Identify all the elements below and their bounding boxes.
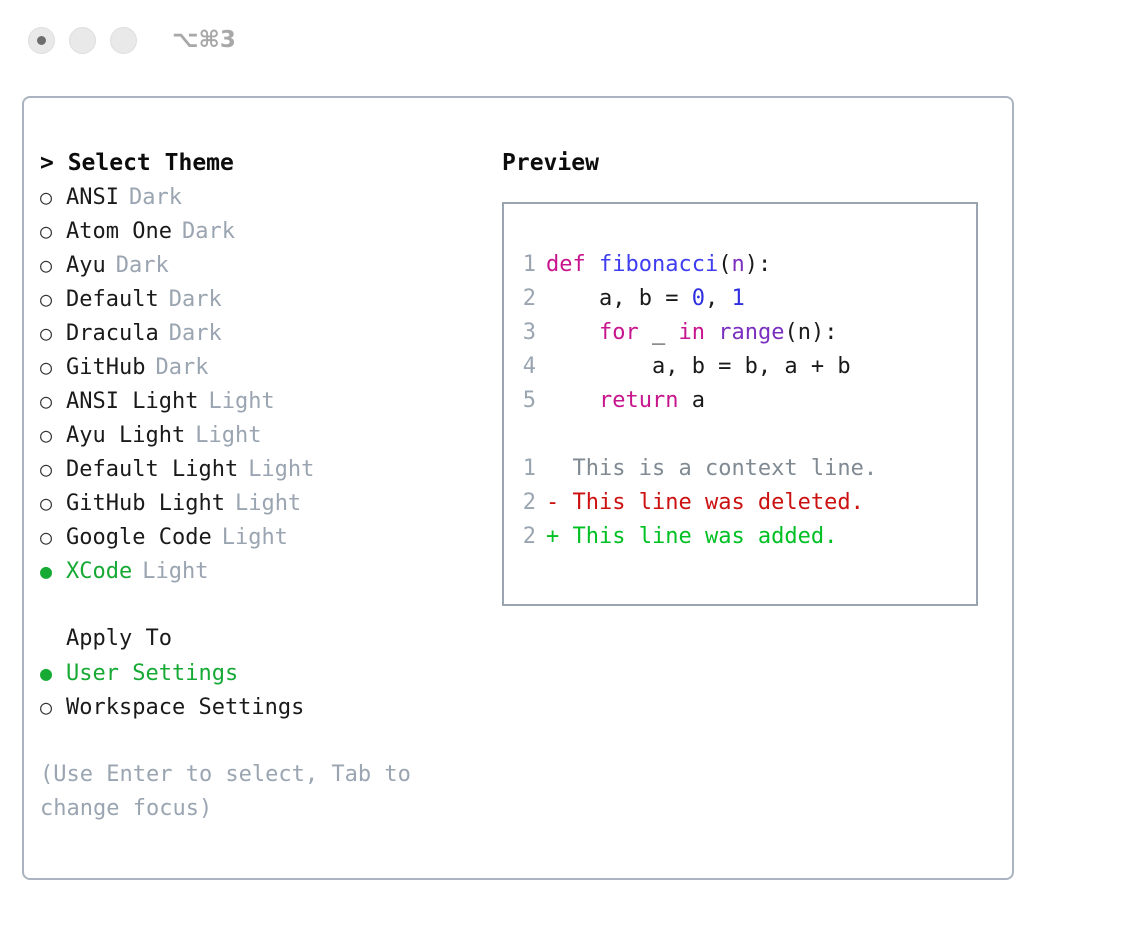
preview-heading: Preview <box>502 146 1012 180</box>
apply-to-option-list: ●User Settings○Workspace Settings <box>40 656 494 724</box>
theme-option-github-light[interactable]: ○GitHub LightLight <box>40 486 494 520</box>
radio-unselected-icon: ○ <box>40 248 66 282</box>
code-line-content: return a <box>546 384 705 418</box>
theme-option-ansi[interactable]: ○ANSIDark <box>40 180 494 214</box>
code-token-kw: in <box>678 320 705 345</box>
keyboard-shortcut-label: ⌥⌘3 <box>172 27 236 53</box>
code-token-text: a <box>678 388 705 413</box>
radio-unselected-icon: ○ <box>40 452 66 486</box>
diff-line-text: This line was added. <box>573 520 838 554</box>
theme-option-category: Dark <box>129 181 182 215</box>
diff-line-prefix: - <box>546 486 573 520</box>
theme-option-label: Default <box>66 283 159 317</box>
apply-to-option-workspace-settings[interactable]: ○Workspace Settings <box>40 690 494 724</box>
theme-option-default[interactable]: ○DefaultDark <box>40 282 494 316</box>
theme-option-label: Dracula <box>66 317 159 351</box>
theme-option-category: Dark <box>169 317 222 351</box>
code-token-var: n <box>731 252 744 277</box>
theme-option-label: XCode <box>66 555 132 589</box>
theme-option-list: ○ANSIDark○Atom OneDark○AyuDark○DefaultDa… <box>40 180 494 588</box>
radio-unselected-icon: ○ <box>40 690 66 724</box>
theme-option-label: Ayu Light <box>66 419 185 453</box>
theme-option-label: Google Code <box>66 521 212 555</box>
code-token-pun: (n): <box>784 320 837 345</box>
radio-unselected-icon: ○ <box>40 520 66 554</box>
radio-unselected-icon: ○ <box>40 384 66 418</box>
code-sample: 1def fibonacci(n):2 a, b = 0, 13 for _ i… <box>504 248 976 418</box>
select-theme-heading: > Select Theme <box>40 146 494 180</box>
code-token-text <box>546 320 599 345</box>
theme-option-label: ANSI Light <box>66 385 198 419</box>
theme-option-xcode[interactable]: ●XCodeLight <box>40 554 494 588</box>
diff-line-prefix: + <box>546 520 573 554</box>
apply-to-option-label: User Settings <box>66 657 238 691</box>
diff-line-number: 2 <box>504 520 546 554</box>
diff-line-number: 1 <box>504 452 546 486</box>
diff-line-number: 2 <box>504 486 546 520</box>
traffic-light-active-dot <box>37 36 46 45</box>
title-bar: ⌥⌘3 <box>0 0 1140 80</box>
code-token-text: a, b = b, a + b <box>546 354 851 379</box>
code-line: 5 return a <box>504 384 976 418</box>
preview-column: Preview 1def fibonacci(n):2 a, b = 0, 13… <box>494 98 1012 878</box>
code-token-kw: for <box>599 320 639 345</box>
code-line-content: a, b = b, a + b <box>546 350 851 384</box>
theme-option-category: Light <box>222 521 288 555</box>
code-token-pun: ( <box>718 252 731 277</box>
diff-line-text: This is a context line. <box>573 452 878 486</box>
code-token-num: 1 <box>731 286 744 311</box>
radio-unselected-icon: ○ <box>40 214 66 248</box>
code-token-num: 0 <box>692 286 705 311</box>
theme-option-category: Light <box>195 419 261 453</box>
apply-to-heading: Apply To <box>40 622 494 656</box>
apply-to-option-label: Workspace Settings <box>66 691 304 725</box>
theme-option-category: Light <box>208 385 274 419</box>
code-token-text: _ <box>639 320 679 345</box>
code-line-number: 4 <box>504 350 546 384</box>
theme-option-category: Light <box>235 487 301 521</box>
theme-picker-column: > Select Theme ○ANSIDark○Atom OneDark○Ay… <box>24 98 494 878</box>
theme-option-label: Atom One <box>66 215 172 249</box>
code-token-text: , <box>705 286 732 311</box>
theme-option-google-code[interactable]: ○Google CodeLight <box>40 520 494 554</box>
help-text: (Use Enter to select, Tab to change focu… <box>40 758 440 826</box>
radio-unselected-icon: ○ <box>40 282 66 316</box>
code-token-text <box>705 320 718 345</box>
code-line: 3 for _ in range(n): <box>504 316 976 350</box>
code-token-kw: def <box>546 252 599 277</box>
theme-option-label: ANSI <box>66 181 119 215</box>
radio-selected-icon: ● <box>40 554 66 588</box>
theme-option-label: Ayu <box>66 249 106 283</box>
theme-option-label: GitHub <box>66 351 145 385</box>
code-line-number: 1 <box>504 248 546 282</box>
theme-option-dracula[interactable]: ○DraculaDark <box>40 316 494 350</box>
radio-unselected-icon: ○ <box>40 316 66 350</box>
code-line-number: 2 <box>504 282 546 316</box>
traffic-light-second-icon[interactable] <box>69 27 96 54</box>
main-panel: > Select Theme ○ANSIDark○Atom OneDark○Ay… <box>22 96 1014 880</box>
code-token-text: a, b = <box>546 286 692 311</box>
theme-option-category: Light <box>142 555 208 589</box>
apply-to-option-user-settings[interactable]: ●User Settings <box>40 656 494 690</box>
code-token-call: range <box>718 320 784 345</box>
diff-line-prefix <box>546 452 573 486</box>
radio-unselected-icon: ○ <box>40 350 66 384</box>
code-diff-separator <box>504 418 976 452</box>
code-line-number: 5 <box>504 384 546 418</box>
theme-option-ansi-light[interactable]: ○ANSI LightLight <box>40 384 494 418</box>
code-token-kw: return <box>599 388 678 413</box>
radio-selected-icon: ● <box>40 656 66 690</box>
radio-unselected-icon: ○ <box>40 418 66 452</box>
code-line-content: for _ in range(n): <box>546 316 837 350</box>
diff-line-del: 2- This line was deleted. <box>504 486 976 520</box>
traffic-light-third-icon[interactable] <box>110 27 137 54</box>
theme-option-category: Dark <box>182 215 235 249</box>
theme-option-category: Dark <box>169 283 222 317</box>
theme-option-category: Light <box>248 453 314 487</box>
diff-sample: 1 This is a context line.2- This line wa… <box>504 452 976 554</box>
theme-option-label: GitHub Light <box>66 487 225 521</box>
traffic-light-group <box>28 27 137 54</box>
code-preview-box: 1def fibonacci(n):2 a, b = 0, 13 for _ i… <box>502 202 978 606</box>
app-window: ⌥⌘3 > Select Theme ○ANSIDark○Atom OneDar… <box>0 0 1140 934</box>
theme-option-github[interactable]: ○GitHubDark <box>40 350 494 384</box>
code-token-fn: fibonacci <box>599 252 718 277</box>
theme-option-ayu[interactable]: ○AyuDark <box>40 248 494 282</box>
code-line: 1def fibonacci(n): <box>504 248 976 282</box>
list-spacer <box>40 588 494 622</box>
theme-option-category: Dark <box>116 249 169 283</box>
diff-line-ctx: 1 This is a context line. <box>504 452 976 486</box>
theme-option-atom-one[interactable]: ○Atom OneDark <box>40 214 494 248</box>
code-line-content: def fibonacci(n): <box>546 248 771 282</box>
theme-option-label: Default Light <box>66 453 238 487</box>
code-line: 4 a, b = b, a + b <box>504 350 976 384</box>
traffic-light-active-icon[interactable] <box>28 27 55 54</box>
radio-unselected-icon: ○ <box>40 486 66 520</box>
code-token-pun: ): <box>745 252 772 277</box>
theme-option-ayu-light[interactable]: ○Ayu LightLight <box>40 418 494 452</box>
code-line-number: 3 <box>504 316 546 350</box>
theme-option-category: Dark <box>155 351 208 385</box>
diff-line-add: 2+ This line was added. <box>504 520 976 554</box>
code-token-text <box>546 388 599 413</box>
theme-option-default-light[interactable]: ○Default LightLight <box>40 452 494 486</box>
radio-unselected-icon: ○ <box>40 180 66 214</box>
code-line-content: a, b = 0, 1 <box>546 282 745 316</box>
diff-line-text: This line was deleted. <box>573 486 864 520</box>
code-line: 2 a, b = 0, 1 <box>504 282 976 316</box>
